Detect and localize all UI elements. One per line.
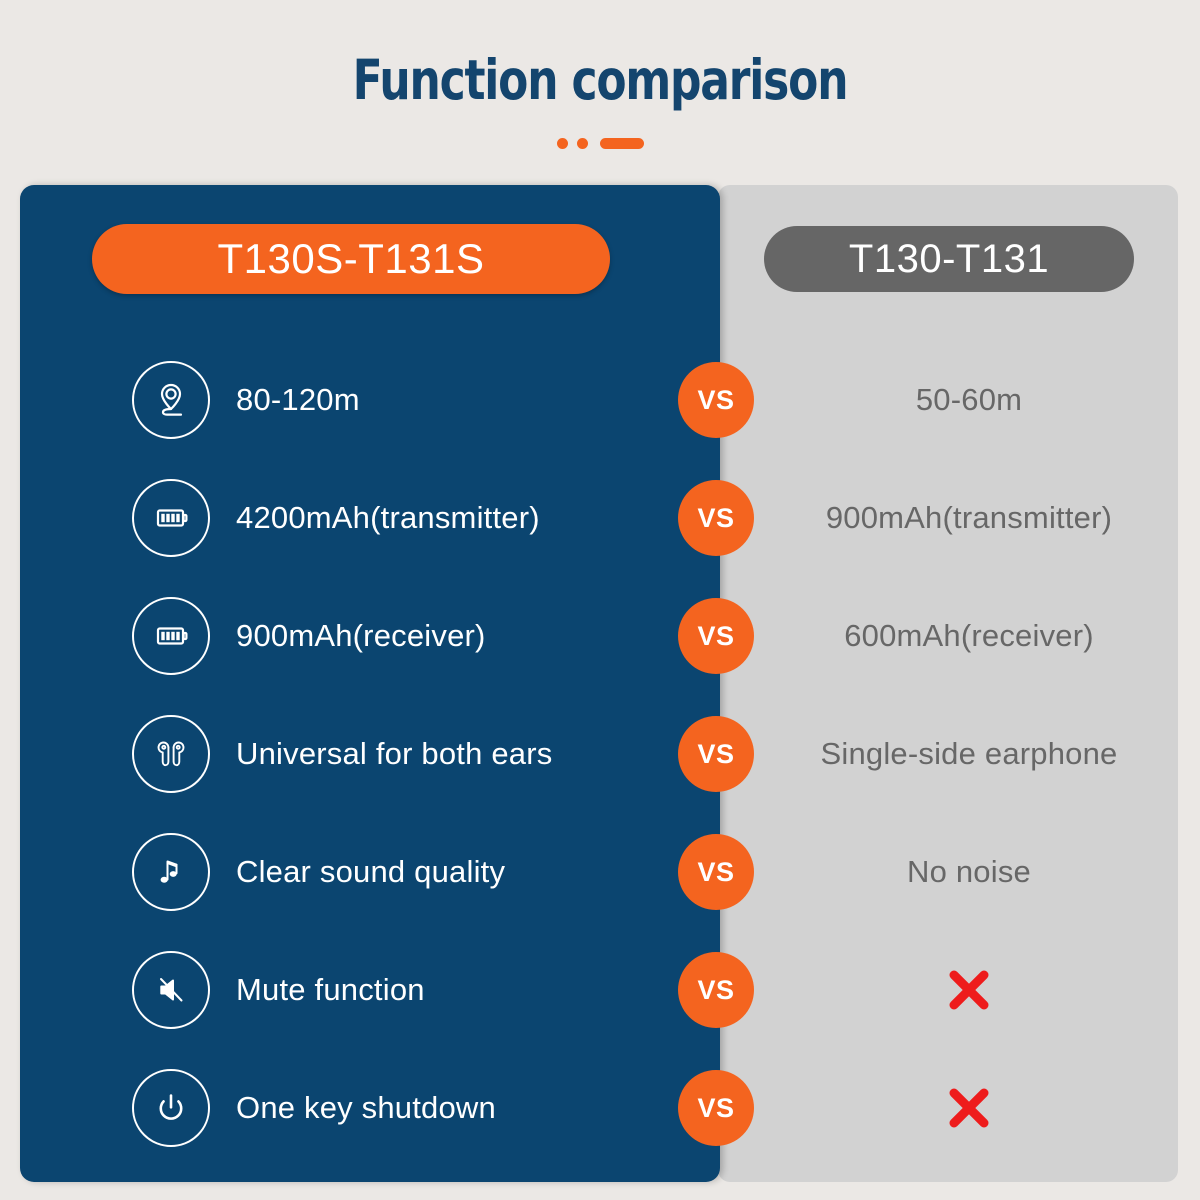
comparison-infographic: Function comparison T130S-T131S T130-T13… (0, 0, 1200, 1200)
row-left-label: 900mAh(receiver) (236, 618, 486, 654)
battery-full-icon (132, 479, 210, 557)
comparison-row: Mute function VS (0, 931, 1200, 1049)
decoration-dot-1 (557, 138, 568, 149)
row-right-label: No noise (907, 854, 1031, 890)
decoration-dot-2 (577, 138, 588, 149)
vs-badge: VS (678, 1070, 754, 1146)
row-left-label: Mute function (236, 972, 425, 1008)
row-right-label: 50-60m (916, 382, 1022, 418)
earbuds-icon (132, 715, 210, 793)
vs-badge: VS (678, 716, 754, 792)
right-column-header-pill[interactable]: T130-T131 (764, 226, 1134, 292)
row-right-cell: 600mAh(receiver) (760, 577, 1178, 695)
vs-label: VS (697, 739, 734, 770)
page-title: Function comparison (120, 48, 1080, 112)
row-left-cell: 4200mAh(transmitter) (132, 459, 692, 577)
vs-label: VS (697, 621, 734, 652)
vs-badge: VS (678, 834, 754, 910)
vs-label: VS (697, 975, 734, 1006)
cross-icon (941, 1080, 997, 1136)
row-left-label: 4200mAh(transmitter) (236, 500, 540, 536)
row-left-label: Clear sound quality (236, 854, 505, 890)
left-column-header-label: T130S-T131S (218, 235, 485, 283)
vs-label: VS (697, 857, 734, 888)
row-left-label: Universal for both ears (236, 736, 552, 772)
row-left-cell: Clear sound quality (132, 813, 692, 931)
row-right-label: 900mAh(transmitter) (826, 500, 1112, 536)
row-right-label: Single-side earphone (821, 736, 1118, 772)
comparison-row: 4200mAh(transmitter) VS 900mAh(transmitt… (0, 459, 1200, 577)
vs-badge: VS (678, 952, 754, 1028)
vs-badge: VS (678, 480, 754, 556)
row-left-cell: 900mAh(receiver) (132, 577, 692, 695)
vs-label: VS (697, 385, 734, 416)
left-column-header-pill[interactable]: T130S-T131S (92, 224, 610, 294)
vs-label: VS (697, 503, 734, 534)
mute-speaker-icon (132, 951, 210, 1029)
title-decoration (0, 138, 1200, 149)
music-note-icon (132, 833, 210, 911)
comparison-row: 80-120m VS 50-60m (0, 341, 1200, 459)
vs-label: VS (697, 1093, 734, 1124)
decoration-bar (600, 138, 644, 149)
row-left-cell: 80-120m (132, 341, 692, 459)
row-right-cell: Single-side earphone (760, 695, 1178, 813)
comparison-row: One key shutdown VS (0, 1049, 1200, 1167)
vs-badge: VS (678, 598, 754, 674)
location-pin-icon (132, 361, 210, 439)
comparison-row: Clear sound quality VS No noise (0, 813, 1200, 931)
row-left-cell: Mute function (132, 931, 692, 1049)
row-right-cell: No noise (760, 813, 1178, 931)
cross-icon (941, 962, 997, 1018)
row-right-cell (760, 1049, 1178, 1167)
row-left-cell: Universal for both ears (132, 695, 692, 813)
power-icon (132, 1069, 210, 1147)
right-column-header-label: T130-T131 (849, 237, 1049, 282)
vs-badge: VS (678, 362, 754, 438)
row-right-label: 600mAh(receiver) (844, 618, 1094, 654)
row-left-cell: One key shutdown (132, 1049, 692, 1167)
row-right-cell: 900mAh(transmitter) (760, 459, 1178, 577)
row-left-label: 80-120m (236, 382, 360, 418)
row-right-cell (760, 931, 1178, 1049)
row-right-cell: 50-60m (760, 341, 1178, 459)
battery-full-icon (132, 597, 210, 675)
comparison-row: Universal for both ears VS Single-side e… (0, 695, 1200, 813)
comparison-row: 900mAh(receiver) VS 600mAh(receiver) (0, 577, 1200, 695)
row-left-label: One key shutdown (236, 1090, 496, 1126)
